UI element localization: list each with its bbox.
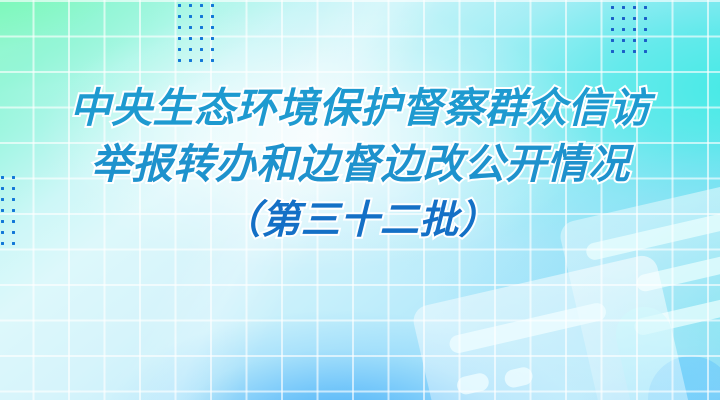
dot bbox=[200, 26, 203, 29]
poster-title-line-2: 举报转办和边督边改公开情况 bbox=[0, 144, 720, 185]
dot bbox=[611, 28, 614, 31]
dot bbox=[200, 59, 203, 62]
dot-grid-top-right-icon bbox=[611, 6, 655, 61]
dot bbox=[622, 39, 625, 42]
poster-title-line-1: 中央生态环境保护督察群众信访 bbox=[0, 88, 720, 129]
dot bbox=[644, 6, 647, 9]
dot bbox=[178, 37, 181, 40]
dot bbox=[622, 17, 625, 20]
dot bbox=[633, 28, 636, 31]
dot bbox=[211, 4, 214, 7]
poster-canvas: 中央生态环境保护督察群众信访 举报转办和边督边改公开情况 （第三十二批） bbox=[0, 0, 720, 400]
dot bbox=[622, 6, 625, 9]
dot bbox=[633, 50, 636, 53]
dot bbox=[211, 48, 214, 51]
dot bbox=[189, 15, 192, 18]
dot bbox=[644, 17, 647, 20]
dot bbox=[178, 48, 181, 51]
dot bbox=[178, 26, 181, 29]
dot bbox=[178, 59, 181, 62]
dot bbox=[611, 17, 614, 20]
dot bbox=[611, 39, 614, 42]
dot bbox=[211, 37, 214, 40]
dot bbox=[189, 4, 192, 7]
dot bbox=[189, 48, 192, 51]
dot bbox=[200, 4, 203, 7]
poster-title-block: 中央生态环境保护督察群众信访 举报转办和边督边改公开情况 （第三十二批） bbox=[0, 88, 720, 240]
dot bbox=[611, 50, 614, 53]
dot bbox=[633, 6, 636, 9]
dot bbox=[200, 48, 203, 51]
dot bbox=[200, 37, 203, 40]
poster-title-line-3: （第三十二批） bbox=[0, 201, 720, 240]
dot bbox=[633, 17, 636, 20]
dot bbox=[644, 39, 647, 42]
dot bbox=[633, 39, 636, 42]
dot bbox=[211, 15, 214, 18]
dot bbox=[12, 242, 15, 245]
dot bbox=[622, 50, 625, 53]
dot bbox=[189, 59, 192, 62]
dot bbox=[178, 15, 181, 18]
dot bbox=[211, 59, 214, 62]
dot bbox=[200, 15, 203, 18]
dot bbox=[189, 37, 192, 40]
dot-grid-top-left-icon bbox=[178, 4, 222, 70]
dot bbox=[1, 242, 4, 245]
dot bbox=[211, 26, 214, 29]
dot bbox=[644, 50, 647, 53]
dot bbox=[644, 28, 647, 31]
dot bbox=[622, 28, 625, 31]
dot bbox=[611, 6, 614, 9]
dot bbox=[178, 4, 181, 7]
dot bbox=[189, 26, 192, 29]
